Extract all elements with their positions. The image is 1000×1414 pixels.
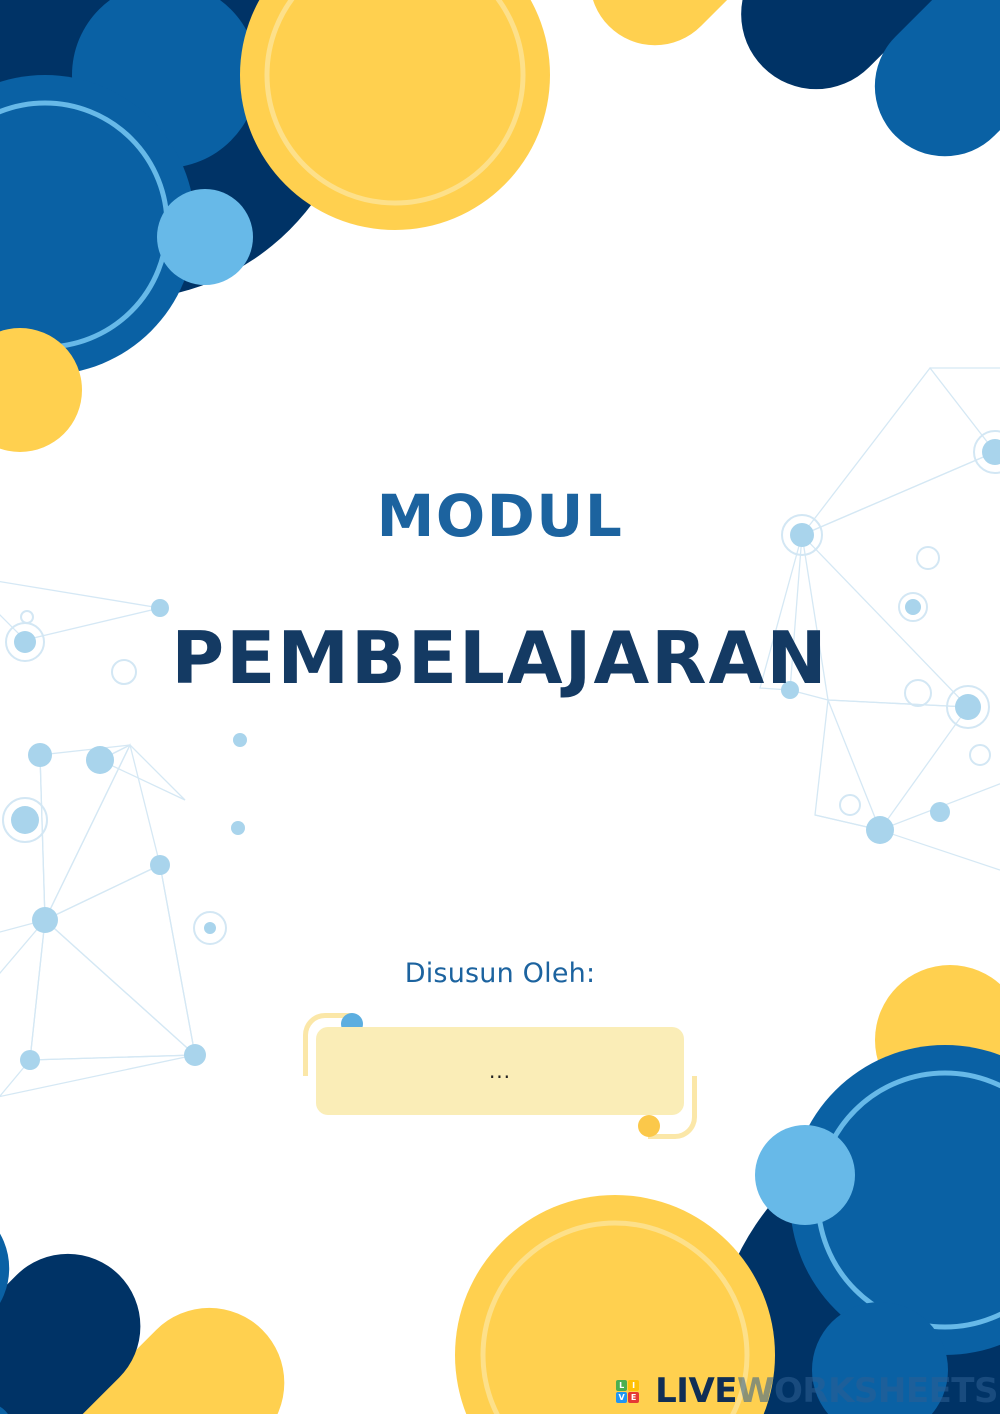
yellow-dot-icon: [638, 1115, 660, 1137]
logo-cell-3: V: [616, 1392, 627, 1403]
logo-cell-1: I: [628, 1380, 639, 1391]
author-frame: ...: [300, 1003, 700, 1143]
worksheet-page: MODUL PEMBELAJARAN Disusun Oleh: ... L I…: [0, 0, 1000, 1414]
top-yellow-coin: [240, 0, 550, 230]
author-label: Disusun Oleh:: [300, 958, 700, 989]
page-title: MODUL PEMBELAJARAN: [0, 486, 1000, 696]
logo-cell-2: [640, 1380, 651, 1391]
top-right-diagonal-stripes: [655, 0, 1000, 86]
network-pattern-left: [0, 0, 1000, 1414]
logo-cell-0: L: [616, 1380, 627, 1391]
author-input-box[interactable]: ...: [316, 1027, 684, 1115]
network-pattern-right: [0, 0, 1000, 1414]
title-line-pembelajaran: PEMBELAJARAN: [0, 621, 1000, 697]
top-left-circle-cluster: [0, 0, 360, 452]
liveworksheets-logo-icon: L I V E: [616, 1380, 651, 1403]
watermark-worksheets-text: WORKSHEETS: [737, 1374, 998, 1408]
logo-cell-4: E: [628, 1392, 639, 1403]
watermark-live-text: LIVE: [655, 1374, 737, 1408]
liveworksheets-watermark: L I V E LIVE WORKSHEETS: [616, 1374, 998, 1408]
background-decoration: [0, 0, 1000, 1414]
title-line-modul: MODUL: [0, 486, 1000, 547]
author-section: Disusun Oleh: ...: [300, 958, 700, 1143]
bottom-left-diagonal-stripes: [0, 1186, 218, 1414]
author-value: ...: [489, 1061, 511, 1081]
logo-cell-5: [640, 1392, 651, 1403]
